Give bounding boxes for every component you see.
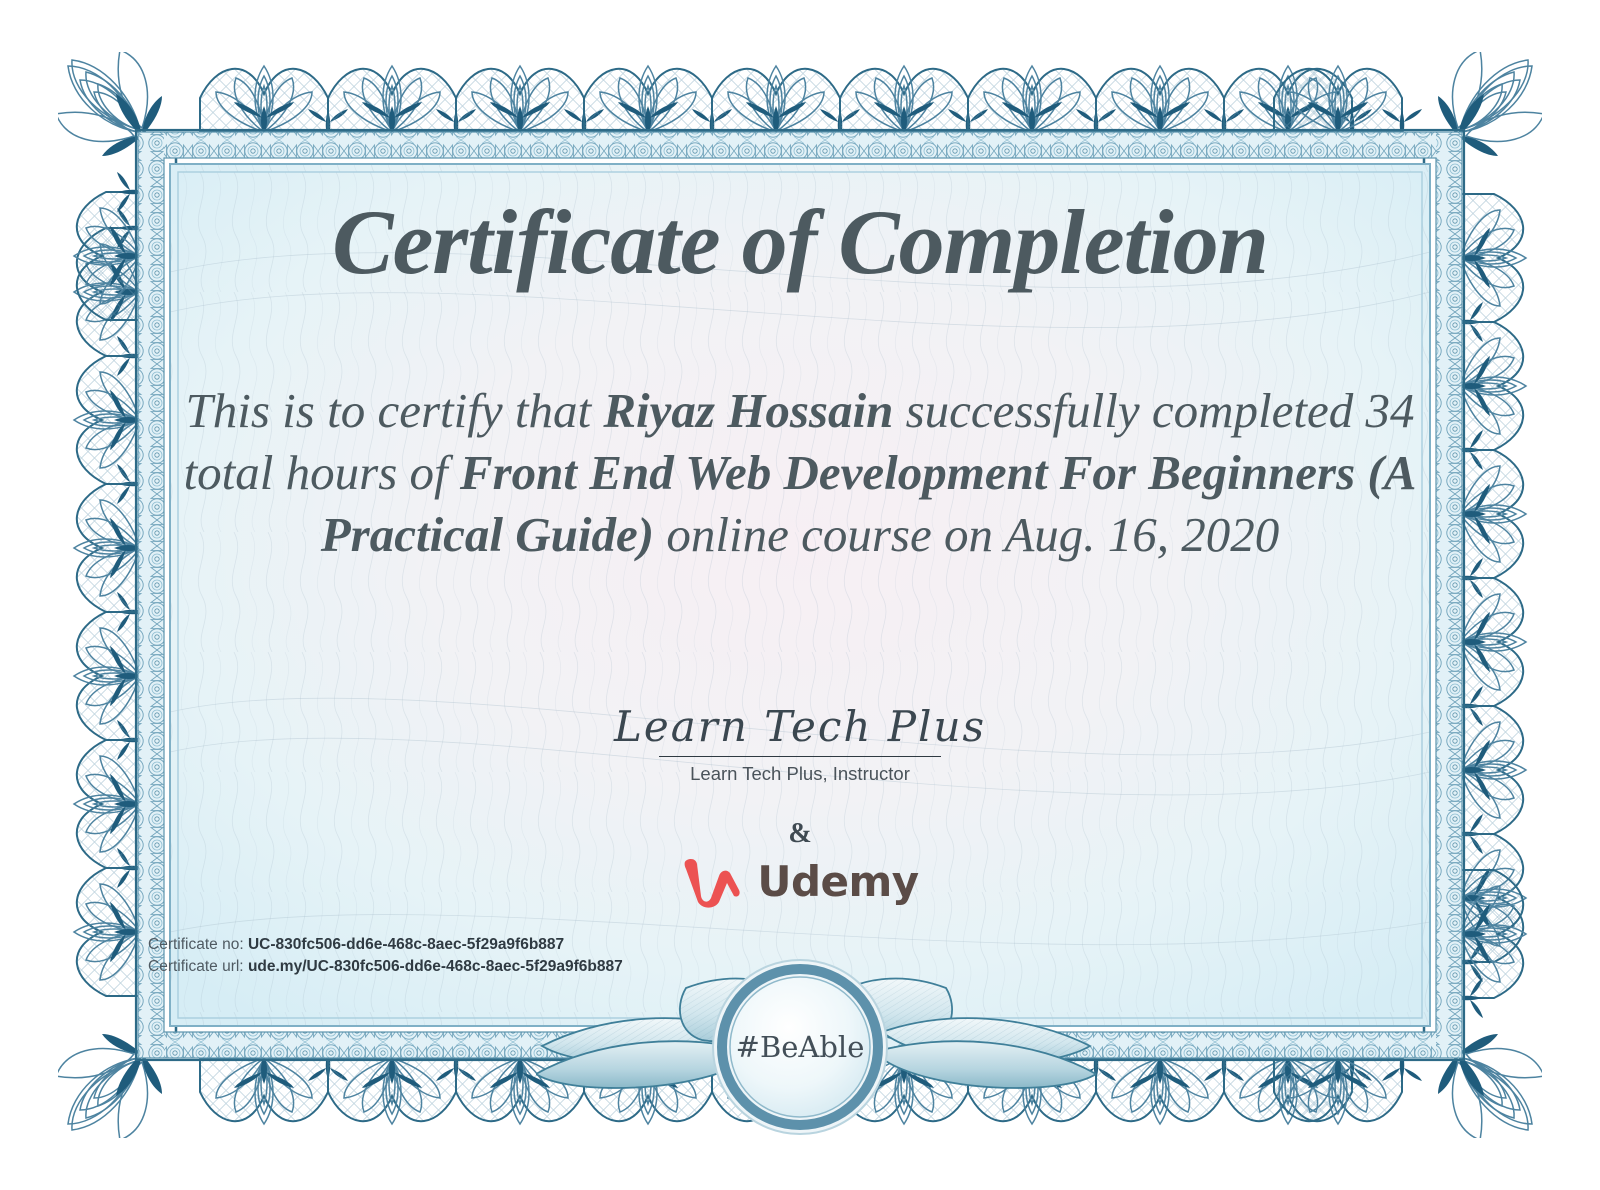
certificate-url-line: Certificate url: ude.my/UC-830fc506-dd6e… [148,956,623,978]
statement-mid2: of [397,445,460,500]
certificate-number-line: Certificate no: UC-830fc506-dd6e-468c-8a… [148,934,623,956]
udemy-logo-lockup: Udemy [138,856,1462,908]
signature-role: Learn Tech Plus, Instructor [138,761,1462,787]
udemy-wordmark: Udemy [757,861,918,903]
statement-lead: This is to certify that [185,383,603,438]
seal-text: #BeAble [711,958,889,1136]
certificate-number-value: UC-830fc506-dd6e-468c-8aec-5f29a9f6b887 [248,936,564,953]
seal-badge: #BeAble [711,958,889,1136]
certificate-page: Certificate of Completion This is to cer… [0,0,1600,1190]
completion-date: Aug. 16, 2020 [1004,507,1279,562]
signature-block: Learn Tech Plus Learn Tech Plus, Instruc… [138,700,1462,787]
certificate-url-label: Certificate url: [148,958,244,975]
statement-mid3: online course on [654,507,1004,562]
certify-statement: This is to certify that Riyaz Hossain su… [178,380,1422,566]
statement-mid1: successfully completed [893,383,1365,438]
certificate-content: Certificate of Completion This is to cer… [138,138,1462,1052]
certificate-identifiers: Certificate no: UC-830fc506-dd6e-468c-8a… [148,934,623,978]
udemy-u-logo-icon [681,856,743,908]
signature-rule [659,756,941,757]
recipient-name: Riyaz Hossain [603,383,893,438]
certificate-url-value[interactable]: ude.my/UC-830fc506-dd6e-468c-8aec-5f29a9… [248,958,623,975]
ampersand: & [138,818,1462,850]
signature-script: Learn Tech Plus [138,700,1462,754]
page-title: Certificate of Completion [138,196,1462,288]
certificate-number-label: Certificate no: [148,936,244,953]
